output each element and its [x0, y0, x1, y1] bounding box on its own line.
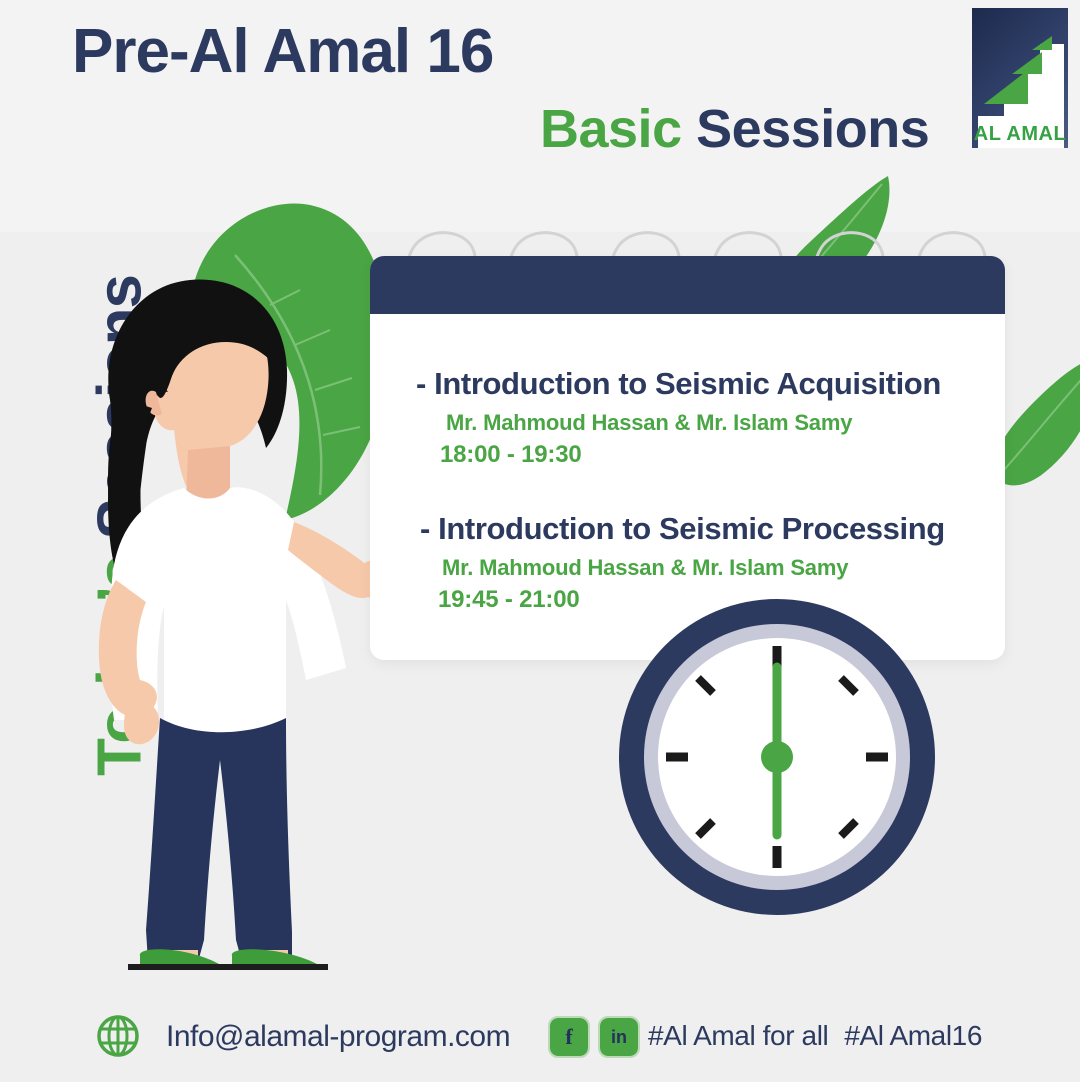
session-title: - Introduction to Seismic Acquisition — [416, 366, 1005, 402]
subtitle-green-word: Basic — [540, 99, 682, 159]
subtitle-navy-word: Sessions — [696, 99, 929, 159]
clock-illustration — [612, 592, 942, 922]
hashtag-primary: #Al Amal for all — [648, 1020, 828, 1051]
globe-icon — [96, 1014, 140, 1058]
session-item: - Introduction to Seismic Acquisition Mr… — [370, 366, 1005, 469]
al-amal-logo: AL AMAL — [972, 8, 1068, 148]
session-speakers: Mr. Mahmoud Hassan & Mr. Islam Samy — [416, 410, 1005, 436]
linkedin-icon[interactable]: in — [600, 1018, 638, 1056]
session-bullet: - — [416, 366, 426, 401]
session-time: 18:00 - 19:30 — [416, 441, 1005, 469]
logo-arrow-icon — [1032, 36, 1052, 50]
page-title: Pre-Al Amal 16 — [72, 16, 493, 87]
session-speakers: Mr. Mahmoud Hassan & Mr. Islam Samy — [420, 555, 1005, 581]
card-body: - Introduction to Seismic Acquisition Mr… — [370, 314, 1005, 614]
footer: Info@alamal-program.com f in #Al Amal fo… — [0, 996, 1080, 1082]
facebook-icon[interactable]: f — [550, 1018, 588, 1056]
contact-email[interactable]: Info@alamal-program.com — [166, 1020, 510, 1054]
session-title-text: Introduction to Seismic Processing — [438, 511, 945, 546]
woman-illustration — [80, 250, 380, 970]
card-header-bar — [370, 256, 1005, 314]
session-title: - Introduction to Seismic Processing — [420, 511, 1005, 547]
poster-canvas: Pre-Al Amal 16 Basic Sessions AL AMAL To… — [0, 0, 1080, 1082]
logo-arrow-icon — [1012, 52, 1042, 74]
logo-text: AL AMAL — [972, 123, 1068, 146]
page-subtitle: Basic Sessions — [540, 98, 929, 160]
session-title-text: Introduction to Seismic Acquisition — [434, 366, 941, 401]
session-bullet: - — [420, 511, 430, 546]
social-links: f in — [550, 1018, 638, 1056]
logo-arrow-icon — [984, 70, 1028, 104]
hashtags: #Al Amal for all#Al Amal16 — [648, 1020, 982, 1052]
hashtag-secondary: #Al Amal16 — [844, 1020, 982, 1051]
